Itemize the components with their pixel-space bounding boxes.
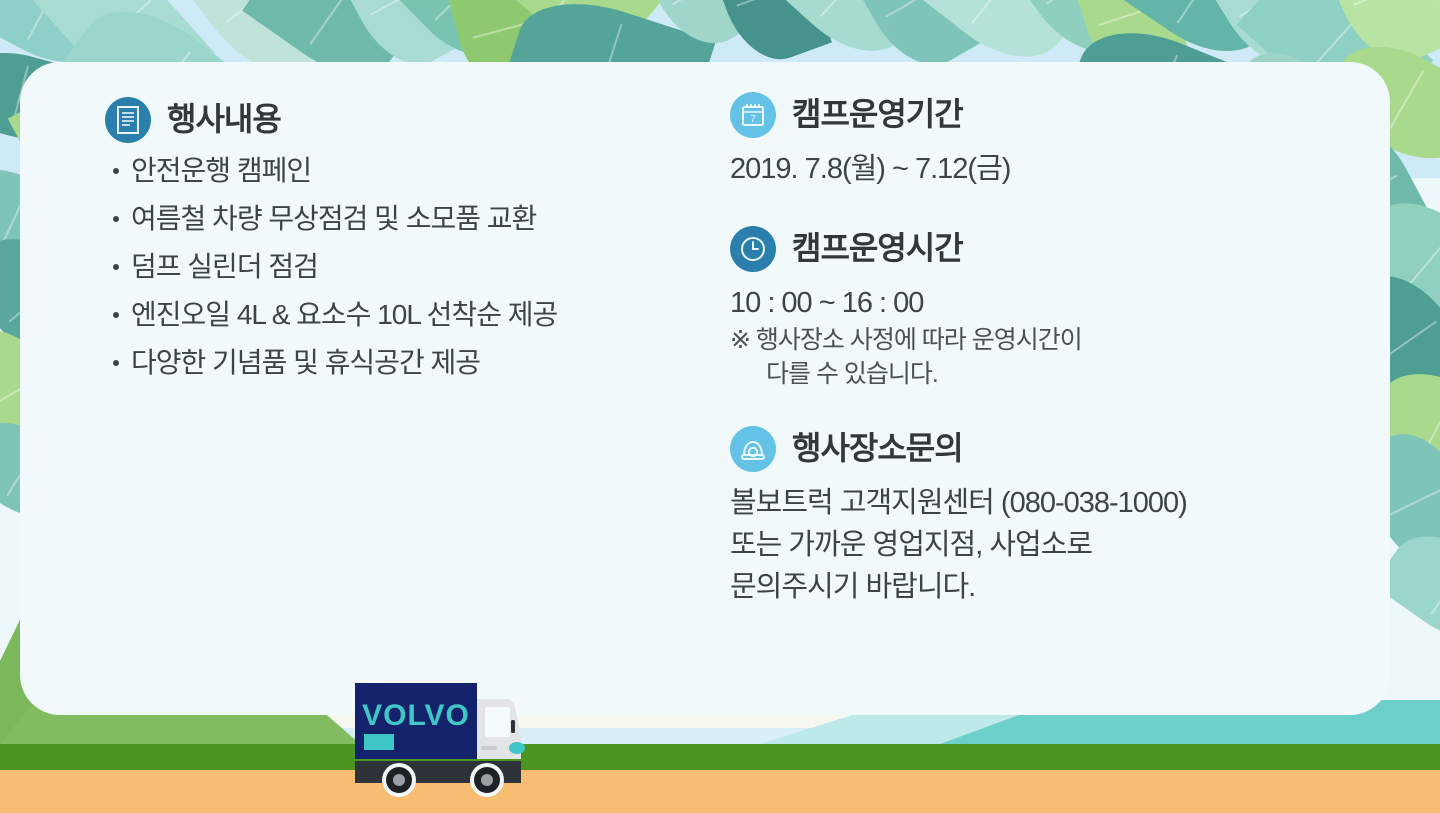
truck-brand-label: VOLVO: [362, 699, 470, 732]
document-list-icon: [105, 97, 151, 143]
contact-title: 행사장소문의: [792, 431, 963, 466]
calendar-day-number: 7: [750, 114, 756, 125]
camp-period-header: 7 캠프운영기간: [730, 92, 1370, 138]
sand-band: [0, 770, 1440, 813]
camp-period-block: 7 캠프운영기간 2019. 7.8(월) ~ 7.12(금): [730, 92, 1370, 190]
event-details-block: 행사내용 안전운행 캠페인 여름철 차량 무상점검 및 소모품 교환 덤프 실린…: [105, 97, 725, 380]
list-item: 안전운행 캠페인: [105, 153, 725, 188]
camp-period-title: 캠프운영기간: [792, 97, 963, 132]
right-column: 7 캠프운영기간 2019. 7.8(월) ~ 7.12(금): [730, 92, 1370, 614]
contact-line-1: 볼보트럭 고객지원센터 (080-038-1000): [730, 482, 1370, 524]
contact-line-2: 또는 가까운 영업지점, 사업소로: [730, 524, 1370, 566]
event-details-list: 안전운행 캠페인 여름철 차량 무상점검 및 소모품 교환 덤프 실린더 점검 …: [105, 153, 725, 380]
event-details-title: 행사내용: [167, 102, 281, 137]
telephone-icon: [730, 426, 776, 472]
list-item: 다양한 기념품 및 휴식공간 제공: [105, 345, 725, 380]
left-column: 행사내용 안전운행 캠페인 여름철 차량 무상점검 및 소모품 교환 덤프 실린…: [105, 97, 725, 393]
camp-hours-value: 10 : 00 ~ 16 : 00: [730, 282, 1370, 324]
camp-hours-title: 캠프운영시간: [792, 231, 963, 266]
list-item: 여름철 차량 무상점검 및 소모품 교환: [105, 201, 725, 236]
spacer: [730, 398, 1370, 426]
poster-stage: 행사내용 안전운행 캠페인 여름철 차량 무상점검 및 소모품 교환 덤프 실린…: [0, 0, 1440, 813]
contact-header: 행사장소문의: [730, 426, 1370, 472]
camp-hours-note-line1: ※ 행사장소 사정에 따라 운영시간이: [730, 324, 1370, 358]
list-item: 덤프 실린더 점검: [105, 249, 725, 284]
content-card: 행사내용 안전운행 캠페인 여름철 차량 무상점검 및 소모품 교환 덤프 실린…: [20, 62, 1390, 715]
list-item: 엔진오일 4L & 요소수 10L 선착순 제공: [105, 297, 725, 332]
camp-hours-header: 캠프운영시간: [730, 226, 1370, 272]
camp-hours-block: 캠프운영시간 10 : 00 ~ 16 : 00 ※ 행사장소 사정에 따라 운…: [730, 226, 1370, 392]
contact-block: 행사장소문의 볼보트럭 고객지원센터 (080-038-1000) 또는 가까운…: [730, 426, 1370, 608]
volvo-truck-illustration: VOLVO: [345, 663, 545, 798]
camp-period-value: 2019. 7.8(월) ~ 7.12(금): [730, 148, 1370, 190]
calendar-icon: 7: [730, 92, 776, 138]
event-details-header: 행사내용: [105, 97, 725, 143]
camp-hours-note-line2: 다를 수 있습니다.: [730, 358, 1370, 392]
spacer: [730, 196, 1370, 226]
contact-line-3: 문의주시기 바랍니다.: [730, 566, 1370, 608]
clock-icon: [730, 226, 776, 272]
grass-band: [0, 744, 1440, 770]
